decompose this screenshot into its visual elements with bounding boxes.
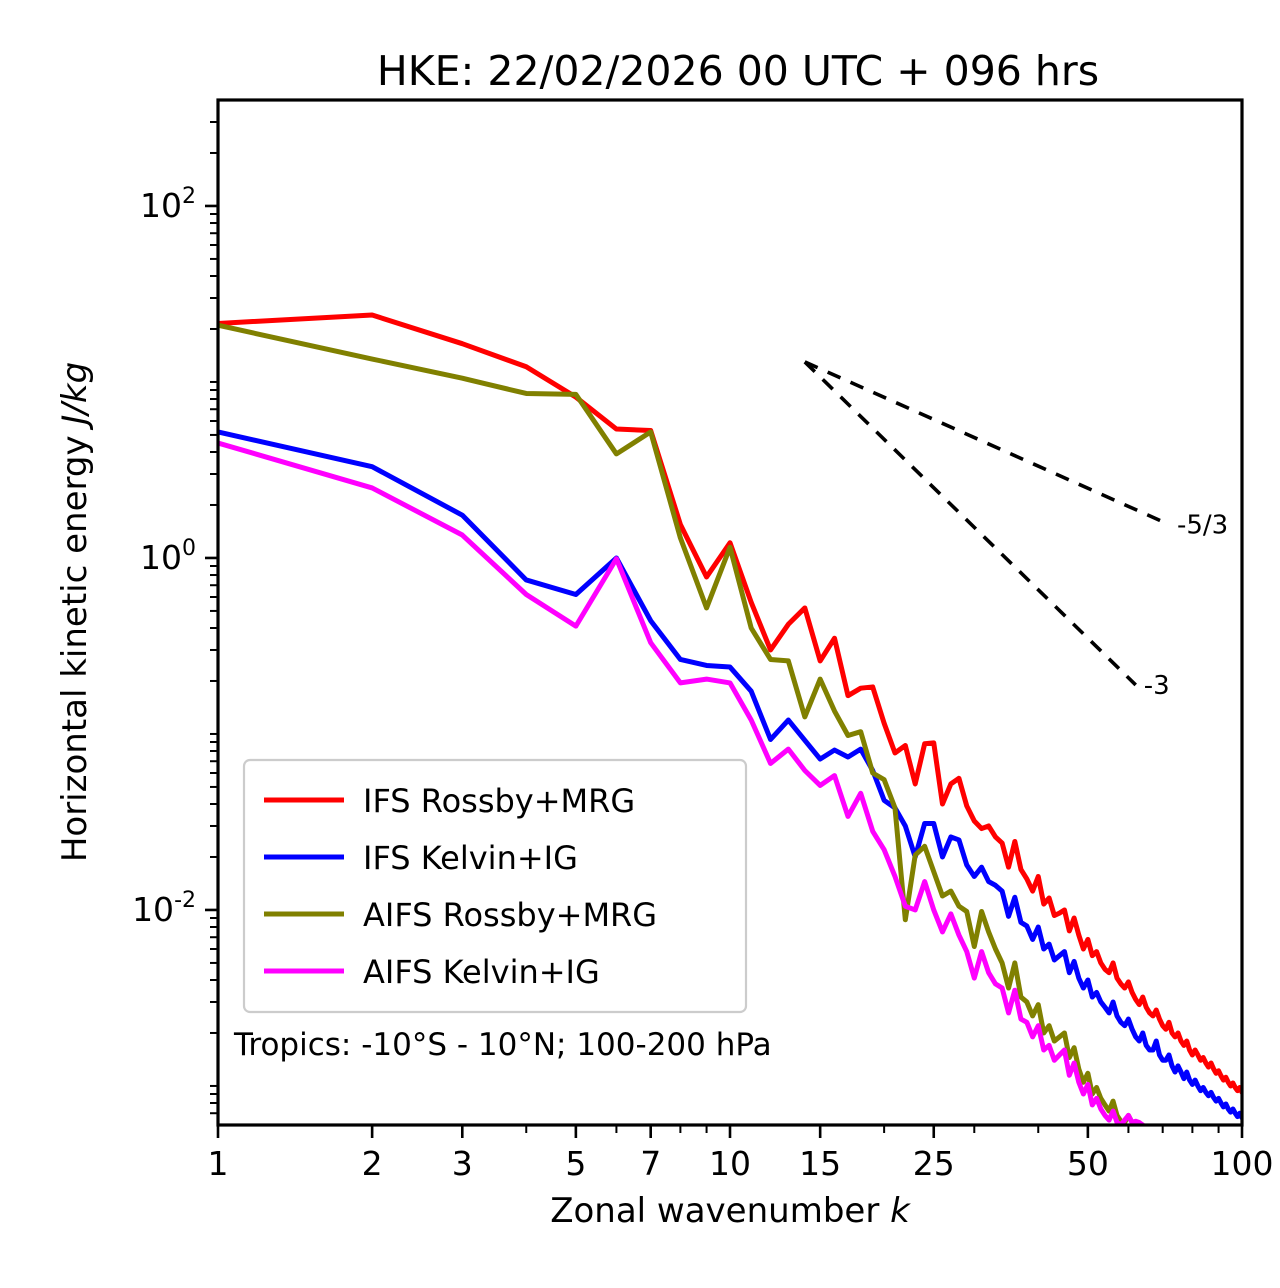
y-tick-label-0: 102 bbox=[140, 184, 196, 225]
x-tick-label-5: 5 bbox=[565, 1144, 586, 1183]
spectral-energy-chart: HKE: 22/02/2026 00 UTC + 096 hrs -5/3-3 … bbox=[0, 0, 1280, 1288]
x-tick-label-15: 15 bbox=[799, 1144, 841, 1183]
x-axis-label: Zonal wavenumber k bbox=[550, 1191, 911, 1231]
legend-label-aifs-kelvin-ig[interactable]: AIFS Kelvin+IG bbox=[363, 953, 600, 991]
legend-label-aifs-rossby-mrg[interactable]: AIFS Rossby+MRG bbox=[363, 896, 657, 934]
y-axis-label: Horizontal kinetic energy J/kg bbox=[55, 362, 95, 862]
x-tick-label-2: 2 bbox=[362, 1144, 383, 1183]
chart-legend[interactable]: IFS Rossby+MRGIFS Kelvin+IGAIFS Rossby+M… bbox=[244, 760, 746, 1012]
y-axis-tick-labels: 10210010-2 bbox=[132, 184, 196, 929]
x-tick-label-1: 1 bbox=[208, 1144, 229, 1183]
slope-guide-label--5-3: -5/3 bbox=[1177, 510, 1228, 540]
x-tick-label-100: 100 bbox=[1211, 1144, 1274, 1183]
x-tick-label-10: 10 bbox=[709, 1144, 751, 1183]
x-tick-label-3: 3 bbox=[452, 1144, 473, 1183]
x-axis-tick-labels: 1235710152550100 bbox=[208, 1144, 1274, 1183]
slope-guide-label--3: -3 bbox=[1144, 671, 1170, 701]
x-axis-ticks bbox=[218, 1125, 1242, 1138]
x-tick-label-50: 50 bbox=[1067, 1144, 1109, 1183]
region-annotation: Tropics: -10°S - 10°N; 100-200 hPa bbox=[233, 1027, 772, 1063]
y-axis-ticks bbox=[205, 122, 218, 1113]
legend-label-ifs-kelvin-ig[interactable]: IFS Kelvin+IG bbox=[363, 839, 578, 877]
legend-label-ifs-rossby-mrg[interactable]: IFS Rossby+MRG bbox=[363, 782, 635, 820]
y-tick-label-2: 10-2 bbox=[132, 888, 196, 929]
page-title: HKE: 22/02/2026 00 UTC + 096 hrs bbox=[377, 47, 1099, 95]
x-tick-label-25: 25 bbox=[913, 1144, 955, 1183]
figure-canvas: HKE: 22/02/2026 00 UTC + 096 hrs -5/3-3 … bbox=[0, 0, 1280, 1288]
y-tick-label-1: 100 bbox=[140, 536, 196, 577]
x-tick-label-7: 7 bbox=[640, 1144, 661, 1183]
